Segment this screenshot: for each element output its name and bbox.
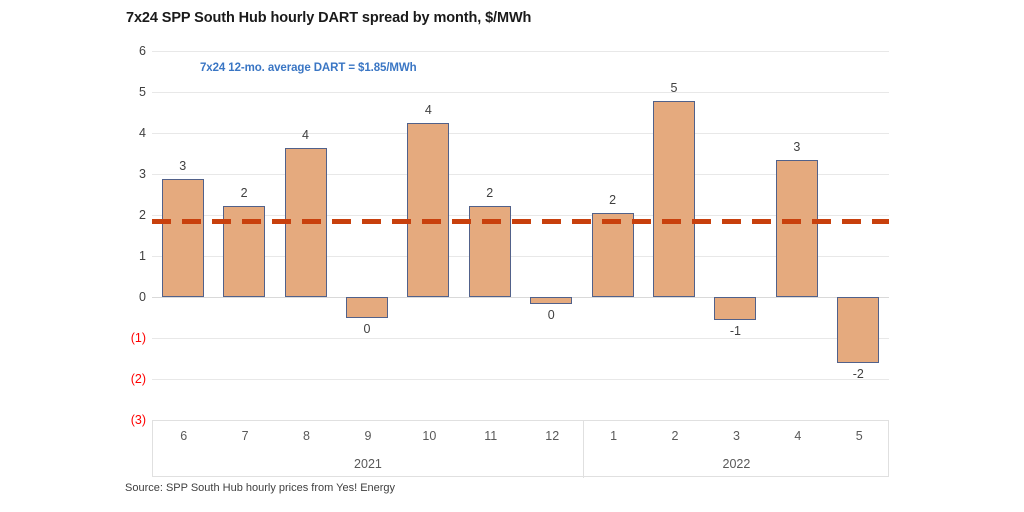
bar-value-label: 0: [548, 309, 555, 322]
bar[interactable]: [653, 101, 695, 297]
y-axis-tick-label: 2: [112, 209, 146, 222]
bar-value-label: -1: [730, 325, 741, 338]
average-reference-line: [152, 219, 889, 224]
bar-slot: -2: [828, 51, 889, 420]
page-title: 7x24 SPP South Hub hourly DART spread by…: [126, 10, 531, 26]
x-axis-month-label: 11: [460, 421, 521, 451]
bar-slot: 4: [398, 51, 459, 420]
bar-value-label: 4: [302, 129, 309, 142]
chart-page: 7x24 SPP South Hub hourly DART spread by…: [0, 0, 1024, 512]
y-axis-tick-label: 6: [112, 45, 146, 58]
y-axis-tick-label: 1: [112, 250, 146, 263]
bar[interactable]: [407, 123, 449, 297]
bar[interactable]: [346, 297, 388, 318]
bar-slot: 2: [459, 51, 520, 420]
x-axis-month-label: 9: [337, 421, 398, 451]
bar-value-label: 3: [179, 160, 186, 173]
bar-slot: -1: [705, 51, 766, 420]
bar-value-label: 0: [363, 323, 370, 336]
bar-value-label: 5: [671, 82, 678, 95]
bar[interactable]: [837, 297, 879, 363]
bar-slot: 5: [643, 51, 704, 420]
bar[interactable]: [162, 179, 204, 297]
x-axis-month-label: 2: [644, 421, 705, 451]
bar[interactable]: [714, 297, 756, 320]
x-axis-month-label: 10: [399, 421, 460, 451]
x-axis-year-label: 2021: [153, 451, 583, 477]
x-axis-month-label: 1: [583, 421, 644, 451]
y-axis-tick-label: (1): [112, 332, 146, 345]
bar-slot: 2: [213, 51, 274, 420]
bar[interactable]: [776, 160, 818, 297]
bar[interactable]: [530, 297, 572, 304]
x-axis-month-label: 5: [829, 421, 890, 451]
y-axis-tick-label: (3): [112, 414, 146, 427]
bar-slot: 3: [766, 51, 827, 420]
x-axis-month-label: 3: [706, 421, 767, 451]
bar-series: 324042025-13-2: [152, 51, 889, 420]
bar-slot: 0: [336, 51, 397, 420]
bar-value-label: 2: [241, 187, 248, 200]
x-axis-month-label: 12: [522, 421, 583, 451]
bar-value-label: 3: [793, 141, 800, 154]
year-group-divider: [583, 421, 584, 478]
bar-slot: 3: [152, 51, 213, 420]
bar[interactable]: [592, 213, 634, 297]
y-axis-tick-label: 5: [112, 86, 146, 99]
x-axis-month-label: 8: [276, 421, 337, 451]
bar-slot: 0: [521, 51, 582, 420]
source-note: Source: SPP South Hub hourly prices from…: [125, 482, 395, 494]
bar-slot: 2: [582, 51, 643, 420]
x-axis-month-label: 7: [214, 421, 275, 451]
y-axis-tick-label: 4: [112, 127, 146, 140]
y-axis-tick-label: 3: [112, 168, 146, 181]
x-axis-month-label: 6: [153, 421, 214, 451]
bar-slot: 4: [275, 51, 336, 420]
bar-value-label: 2: [609, 194, 616, 207]
x-axis-month-label: 4: [767, 421, 828, 451]
x-axis-years: 20212022: [153, 451, 888, 477]
bar-value-label: 4: [425, 104, 432, 117]
y-axis-tick-label: 0: [112, 291, 146, 304]
bar-value-label: -2: [853, 368, 864, 381]
x-axis: 678910111212345 20212022: [152, 420, 889, 477]
x-axis-year-label: 2022: [583, 451, 890, 477]
y-axis-tick-label: (2): [112, 373, 146, 386]
bar-value-label: 2: [486, 187, 493, 200]
x-axis-months: 678910111212345: [153, 421, 888, 451]
